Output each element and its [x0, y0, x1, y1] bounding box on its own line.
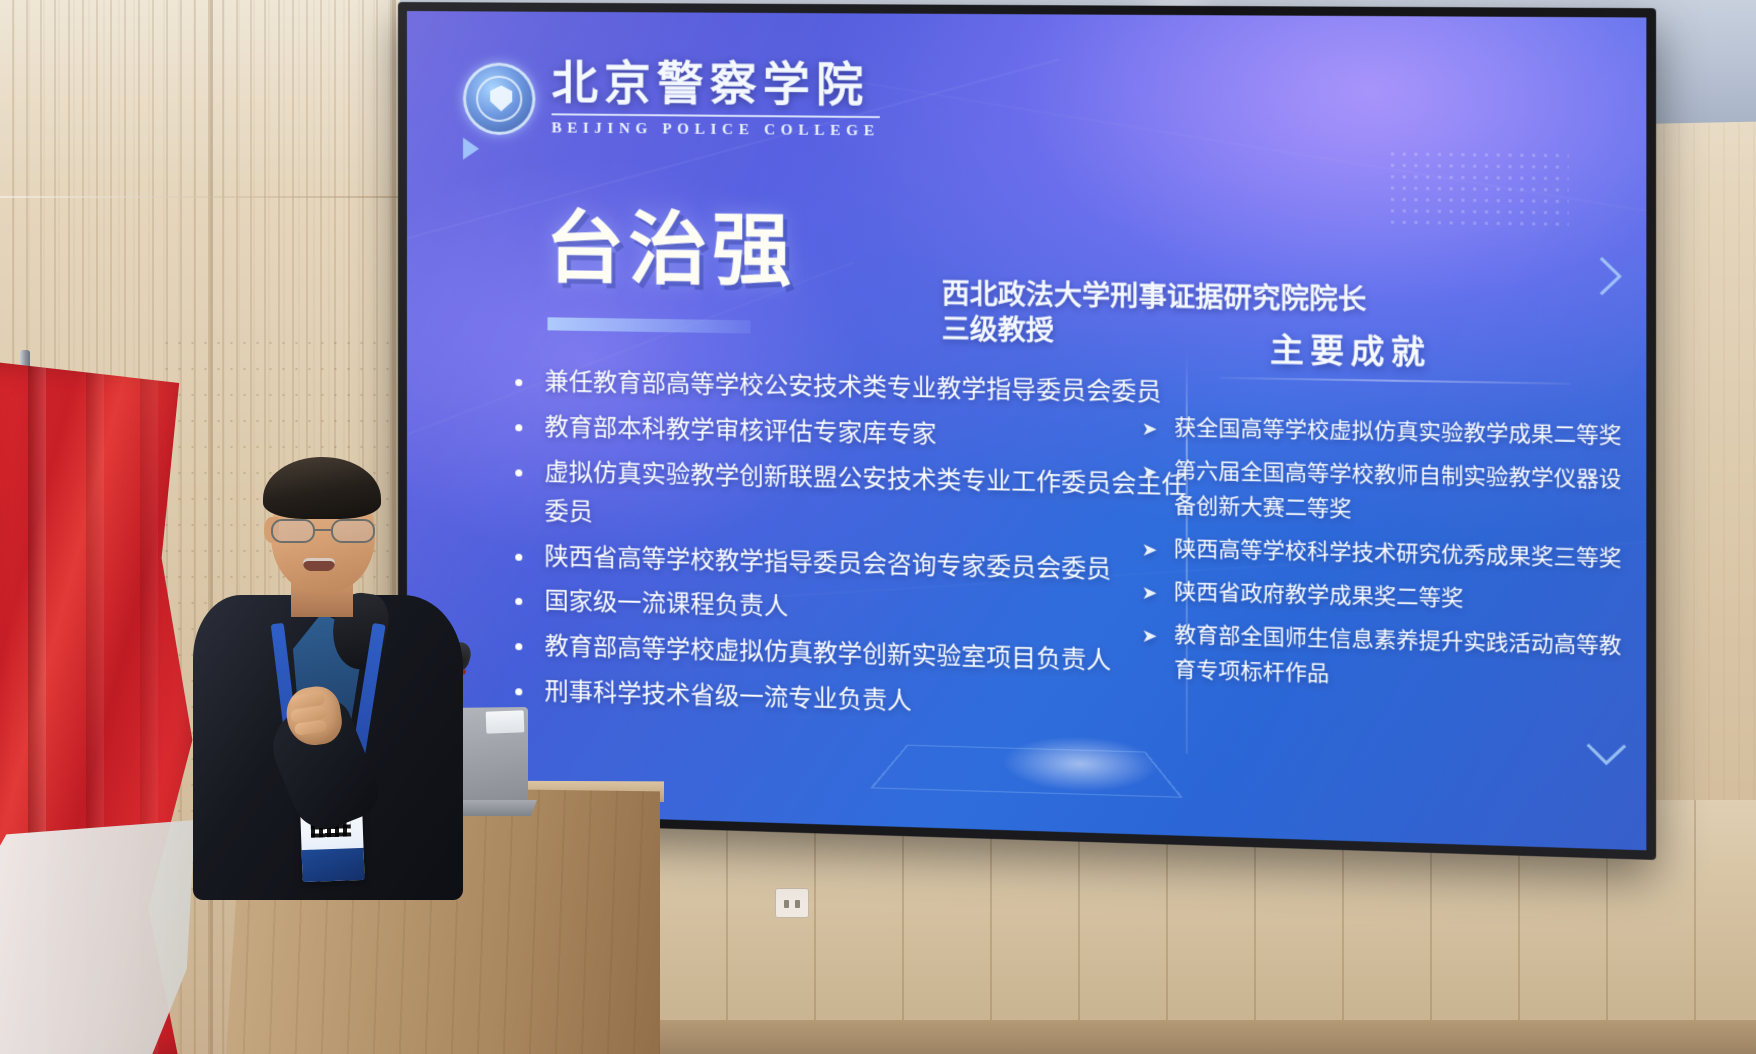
bullet-dot-icon [515, 553, 522, 560]
achievements-rule [1219, 377, 1570, 385]
achievement-list-item-label: 陕西省政府教学成果奖二等奖 [1174, 575, 1463, 617]
chevron-right-icon: ➤ [1142, 578, 1158, 608]
chevron-right-icon: ➤ [1142, 535, 1158, 565]
speaker-name-block: 台治强 西北政法大学刑事证据研究院院长 三级教授 [545, 209, 795, 291]
achievement-list-item: ➤教育部全国师生信息素养提升实践活动高等教育专项标杆作品 [1142, 617, 1626, 700]
bio-list-item-label: 刑事科学技术省级一流专业负责人 [544, 673, 911, 722]
speaker-mouth [303, 558, 335, 571]
achievement-list-item: ➤陕西高等学校科学技术研究优秀成果奖三等奖 [1142, 531, 1626, 577]
name-underline [547, 317, 750, 333]
achievement-list-item-label: 获全国高等学校虚拟仿真实验教学成果二等奖 [1174, 411, 1621, 454]
bullet-dot-icon [515, 598, 522, 605]
bio-list-item-label: 教育部本科教学审核评估专家库专家 [544, 409, 936, 456]
bio-list: 兼任教育部高等学校公安技术类专业教学指导委员会委员教育部本科教学审核评估专家库专… [515, 363, 1189, 736]
bullet-dot-icon [515, 643, 522, 650]
bullet-dot-icon [515, 688, 522, 695]
bullet-dot-icon [515, 469, 522, 476]
speaker-name: 台治强 [545, 209, 795, 291]
speaker-glasses [269, 519, 379, 545]
display-screen-bezel: 北京警察学院 BEIJING POLICE COLLEGE 台治强 西北政法大学… [398, 2, 1656, 860]
glasses-lens [331, 519, 375, 543]
badge-footer [302, 848, 365, 882]
bio-list-item-label: 陕西省高等学校教学指导委员会咨询专家委员会委员 [544, 538, 1111, 590]
flag-white-trim [0, 820, 195, 1054]
achievement-list-item-label: 陕西高等学校科学技术研究优秀成果奖三等奖 [1174, 532, 1621, 577]
presentation-scene: 北京警察学院 BEIJING POLICE COLLEGE 台治强 西北政法大学… [0, 0, 1756, 1054]
institution-name-en: BEIJING POLICE COLLEGE [552, 113, 880, 140]
bullet-dot-icon [515, 424, 522, 431]
bio-list-item-label: 兼任教育部高等学校公安技术类专业教学指导委员会委员 [544, 363, 1161, 413]
achievement-list-item-label: 教育部全国师生信息素养提升实践活动高等教育专项标杆作品 [1174, 618, 1626, 700]
slide-header: 北京警察学院 BEIJING POLICE COLLEGE [463, 59, 880, 140]
speaker-hair [263, 457, 381, 519]
speaker-person [185, 455, 485, 895]
chevron-right-icon: ➤ [1142, 414, 1158, 444]
bio-list-item: 教育部本科教学审核评估专家库专家 [515, 408, 1189, 460]
institution-name-cn: 北京警察学院 [552, 60, 880, 109]
wall-panel-line [0, 196, 400, 198]
bio-list-item: 虚拟仿真实验教学创新联盟公安技术类专业工作委员会主任委员 [515, 453, 1189, 546]
chevron-right-icon: ➤ [1142, 621, 1158, 651]
slide-content: 北京警察学院 BEIJING POLICE COLLEGE 台治强 西北政法大学… [407, 11, 1646, 850]
presentation-slide[interactable]: 北京警察学院 BEIJING POLICE COLLEGE 台治强 西北政法大学… [407, 11, 1646, 850]
achievement-list-item-label: 第六届全国高等学校教师自制实验教学仪器设备创新大赛二等奖 [1174, 454, 1626, 533]
glasses-lens [271, 519, 315, 543]
power-outlet [775, 888, 809, 918]
achievements-heading: 主要成就 [1270, 324, 1431, 374]
achievement-list-item: ➤获全国高等学校虚拟仿真实验教学成果二等奖 [1142, 410, 1626, 454]
speaker-title-line: 西北政法大学刑事证据研究院院长 [942, 276, 1367, 317]
achievement-list-item: ➤陕西省政府教学成果奖二等奖 [1142, 574, 1626, 621]
bullet-dot-icon [515, 379, 522, 386]
bio-list-item: 兼任教育部高等学校公安技术类专业教学指导委员会委员 [515, 363, 1189, 414]
bio-list-item-label: 教育部高等学校虚拟仿真教学创新实验室项目负责人 [544, 628, 1111, 682]
bio-list-item-label: 国家级一流课程负责人 [544, 583, 788, 628]
floor-baseboard [640, 1020, 1756, 1054]
laptop-sticker [486, 710, 525, 733]
glasses-bridge [315, 529, 331, 531]
achievement-list-item: ➤第六届全国高等学校教师自制实验教学仪器设备创新大赛二等奖 [1142, 453, 1626, 533]
bio-list-item-label: 虚拟仿真实验教学创新联盟公安技术类专业工作委员会主任委员 [544, 454, 1188, 546]
police-emblem-icon [463, 62, 535, 135]
achievements-list: ➤获全国高等学校虚拟仿真实验教学成果二等奖➤第六届全国高等学校教师自制实验教学仪… [1142, 410, 1626, 708]
chevron-right-icon: ➤ [1142, 457, 1158, 487]
